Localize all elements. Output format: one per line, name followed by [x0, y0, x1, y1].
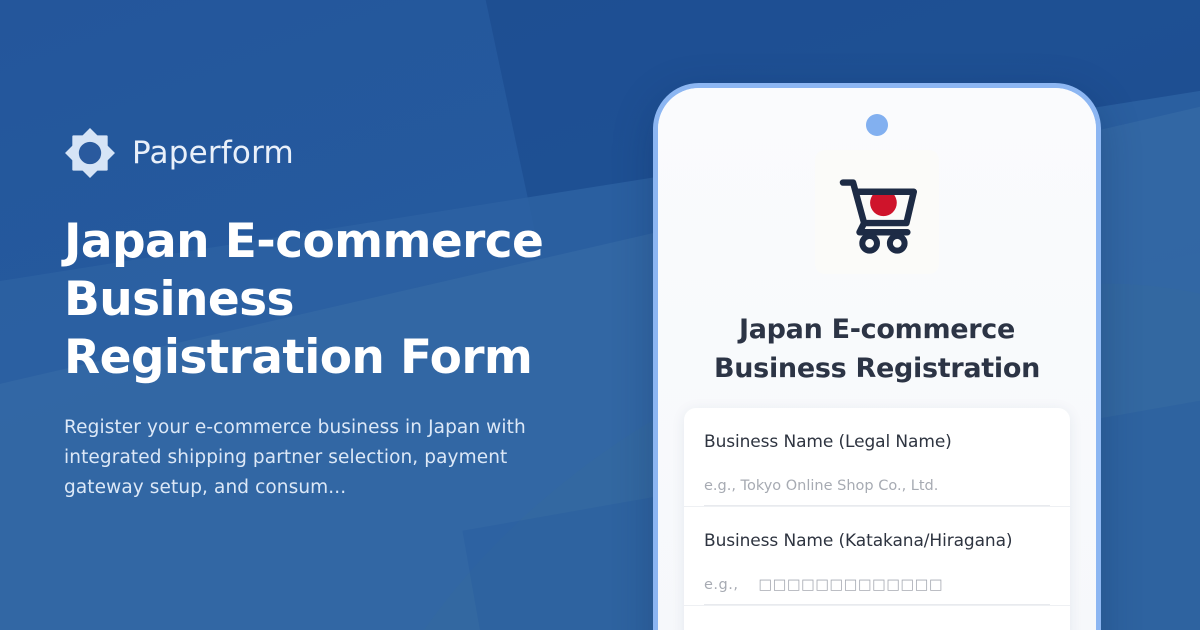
- form-hero-image-tile: [815, 150, 939, 274]
- japan-shopping-cart-icon: [831, 166, 923, 258]
- form-field-business-name-legal: Business Name (Legal Name) e.g., Tokyo O…: [684, 408, 1070, 507]
- hero-text-panel: Paperform Japan E-commerce Business Regi…: [64, 0, 604, 630]
- page-title: Japan E-commerce Business Registration F…: [64, 213, 584, 387]
- social-card-canvas: Paperform Japan E-commerce Business Regi…: [0, 0, 1200, 630]
- phone-screen: Japan E-commerce Business Registration B…: [658, 88, 1096, 630]
- brand-lockup: Paperform: [64, 127, 604, 179]
- business-name-kana-input[interactable]: e.g., □□□□□□□□□□□□□: [704, 575, 1050, 605]
- page-description: Register your e-commerce business in Jap…: [64, 413, 564, 503]
- form-title: Japan E-commerce Business Registration: [686, 310, 1068, 388]
- field-label: Business Name (Legal Name): [704, 430, 1050, 454]
- camera-dot-icon: [866, 114, 888, 136]
- form-field-business-name-kana: Business Name (Katakana/Hiragana) e.g., …: [684, 507, 1070, 606]
- brand-name: Paperform: [132, 135, 294, 171]
- phone-mockup: Japan E-commerce Business Registration B…: [653, 83, 1101, 630]
- paperform-star-logo-icon: [64, 127, 116, 179]
- business-name-legal-input[interactable]: e.g., Tokyo Online Shop Co., Ltd.: [704, 476, 1050, 506]
- field-label: Business Name (Katakana/Hiragana): [704, 529, 1050, 553]
- form-card: Business Name (Legal Name) e.g., Tokyo O…: [684, 408, 1070, 630]
